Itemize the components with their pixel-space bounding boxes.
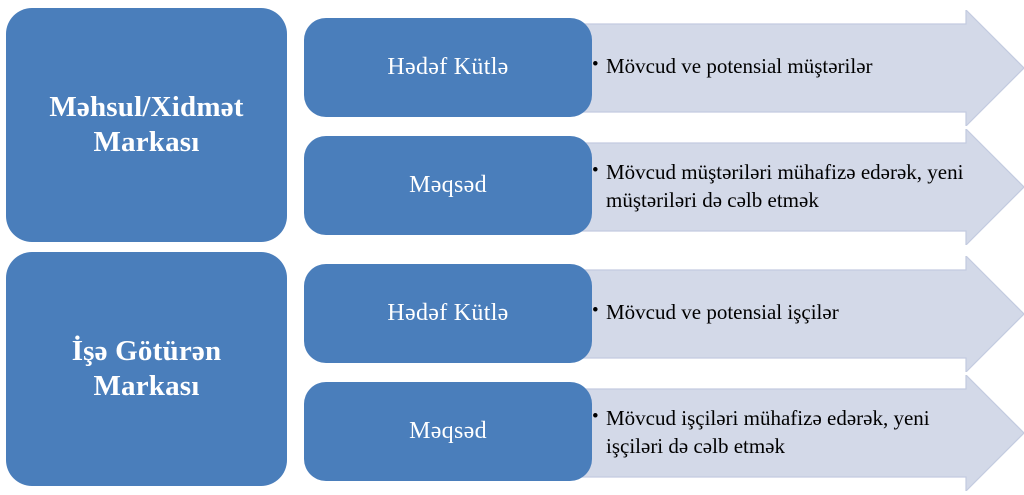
bullet-point-icon: • (592, 53, 606, 78)
row-label-box-1[interactable]: Hədəf Kütlə (304, 18, 592, 117)
row-label-text: Hədəf Kütlə (387, 54, 508, 81)
diagram-canvas: Məhsul/Xidmət Markası İşə Götürən Markas… (0, 0, 1024, 495)
row-label-box-2[interactable]: Məqsəd (304, 136, 592, 235)
bullet-text: Mövcud ve potensial müştərilər (606, 53, 873, 80)
bullet-list-item: • Mövcud işçiləri mühafizə edərək, yeni … (592, 405, 970, 460)
bullet-point-icon: • (592, 159, 606, 184)
bullet-text: Mövcud müştəriləri mühafizə edərək, yeni… (606, 159, 970, 214)
bullet-list-item: • Mövcud müştəriləri mühafizə edərək, ye… (592, 159, 970, 214)
bullet-block-1: • Mövcud ve potensial müştərilər (592, 24, 970, 110)
category-box-product-service-brand[interactable]: Məhsul/Xidmət Markası (6, 8, 287, 242)
bullet-block-2: • Mövcud müştəriləri mühafizə edərək, ye… (592, 143, 970, 230)
row-label-text: Məqsəd (409, 172, 487, 199)
category-box-employer-brand[interactable]: İşə Götürən Markası (6, 252, 287, 486)
category-box-label: Məhsul/Xidmət Markası (18, 90, 275, 161)
bullet-block-3: • Mövcud ve potensial işçilər (592, 270, 970, 356)
category-box-label: İşə Götürən Markası (18, 334, 275, 405)
bullet-text: Mövcud işçiləri mühafizə edərək, yeni iş… (606, 405, 970, 460)
row-label-box-4[interactable]: Məqsəd (304, 382, 592, 481)
row-label-box-3[interactable]: Hədəf Kütlə (304, 264, 592, 363)
bullet-point-icon: • (592, 299, 606, 324)
bullet-text: Mövcud ve potensial işçilər (606, 299, 839, 326)
row-label-text: Hədəf Kütlə (387, 300, 508, 327)
bullet-point-icon: • (592, 405, 606, 430)
bullet-list-item: • Mövcud ve potensial müştərilər (592, 53, 873, 80)
bullet-list-item: • Mövcud ve potensial işçilər (592, 299, 839, 326)
row-label-text: Məqsəd (409, 418, 487, 445)
bullet-block-4: • Mövcud işçiləri mühafizə edərək, yeni … (592, 389, 970, 476)
